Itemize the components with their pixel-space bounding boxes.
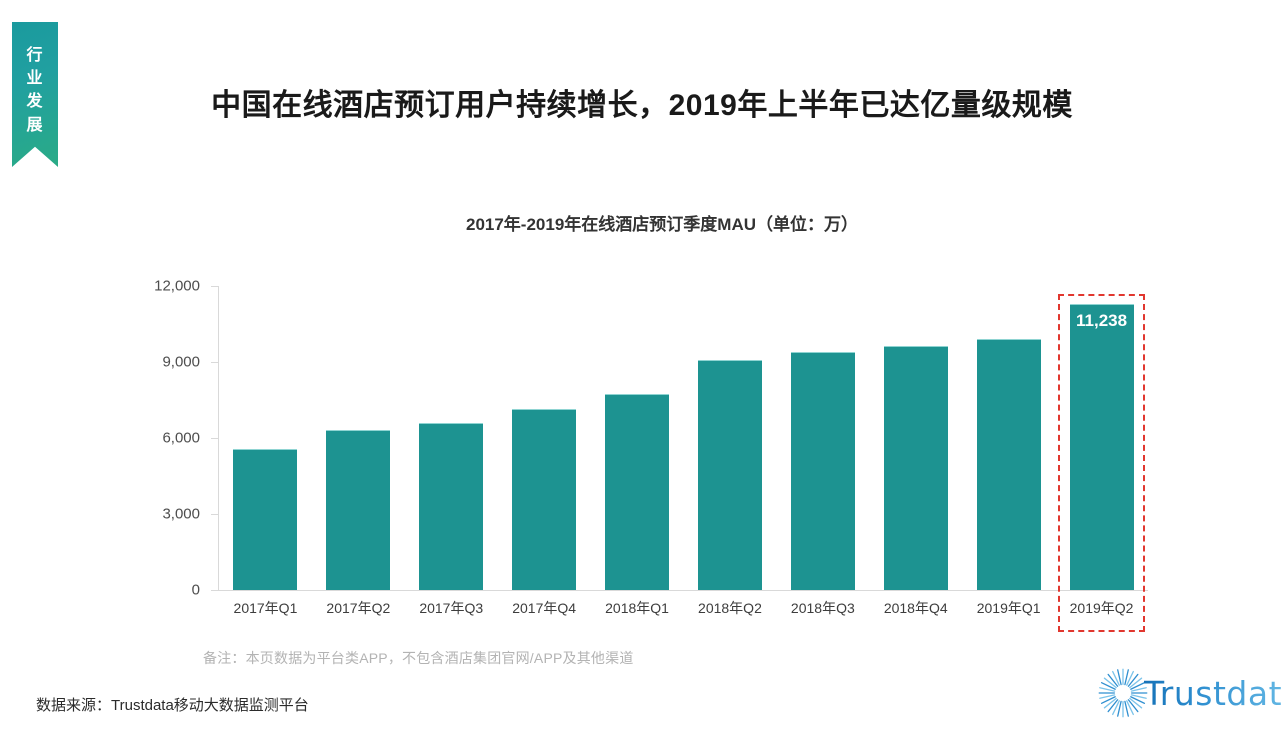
- x-axis-tick-label: 2018年Q4: [869, 598, 962, 618]
- bar-value-label: 11,238: [1070, 311, 1134, 331]
- bar[interactable]: [419, 423, 483, 590]
- bar-slot: [512, 286, 576, 590]
- bar-slot: [605, 286, 669, 590]
- y-axis-tick: [211, 514, 218, 515]
- x-axis-tick-label: 2019年Q2: [1055, 598, 1148, 618]
- x-axis-tick-label: 2017年Q1: [219, 598, 312, 618]
- y-axis-tick: [211, 286, 218, 287]
- y-axis-tick: [211, 438, 218, 439]
- bar-slot: [698, 286, 762, 590]
- bar[interactable]: [791, 352, 855, 590]
- x-axis-tick-label: 2017年Q2: [312, 598, 405, 618]
- y-axis-tick-label: 12,000: [154, 278, 200, 295]
- page-title: 中国在线酒店预订用户持续增长，2019年上半年已达亿量级规模: [0, 80, 1284, 124]
- bar[interactable]: [698, 360, 762, 590]
- y-axis-tick-label: 3,000: [162, 506, 200, 523]
- x-axis-tick-label: 2019年Q1: [962, 598, 1055, 618]
- trustdata-logo: Trustdata: [1096, 662, 1276, 724]
- y-axis-tick-label: 9,000: [162, 354, 200, 371]
- x-axis-tick-label: 2018年Q3: [776, 598, 869, 618]
- chart-container: 2017年-2019年在线酒店预订季度MAU（单位：万） 03,0006,000…: [0, 210, 1284, 235]
- data-source: 数据来源：Trustdata移动大数据监测平台: [36, 694, 309, 715]
- y-axis-tick: [211, 590, 218, 591]
- bar-slot: [977, 286, 1041, 590]
- bar[interactable]: [977, 339, 1041, 590]
- y-axis-tick-label: 0: [192, 582, 200, 599]
- bar-slot: [419, 286, 483, 590]
- y-axis-tick: [211, 362, 218, 363]
- bar[interactable]: [605, 394, 669, 590]
- plot-area: 03,0006,0009,00012,000 11,238 2017年Q1201…: [140, 286, 1160, 636]
- x-axis-tick-label: 2018年Q2: [684, 598, 777, 618]
- bar-slot: [884, 286, 948, 590]
- bar-slot: 11,238: [1070, 286, 1134, 590]
- y-axis-tick-label: 6,000: [162, 430, 200, 447]
- x-axis-line: [218, 590, 1148, 591]
- bar-slot: [233, 286, 297, 590]
- x-axis-tick-label: 2017年Q3: [405, 598, 498, 618]
- bar[interactable]: 11,238: [1070, 304, 1134, 590]
- bar[interactable]: [326, 430, 390, 590]
- bar-slot: [326, 286, 390, 590]
- y-axis-labels: 03,0006,0009,00012,000: [140, 286, 208, 590]
- bar[interactable]: [512, 409, 576, 590]
- x-axis-tick-label: 2017年Q4: [498, 598, 591, 618]
- logo-text: Trustdata: [1144, 674, 1284, 713]
- chart-title: 2017年-2019年在线酒店预订季度MAU（单位：万）: [0, 210, 1284, 235]
- bar-slot: [791, 286, 855, 590]
- bar[interactable]: [233, 449, 297, 590]
- x-axis-labels: 2017年Q12017年Q22017年Q32017年Q42018年Q12018年…: [219, 594, 1148, 624]
- bar[interactable]: [884, 346, 948, 590]
- sunburst-icon: [1096, 666, 1150, 720]
- footnote: 备注：本页数据为平台类APP，不包含酒店集团官网/APP及其他渠道: [203, 648, 634, 668]
- x-axis-tick-label: 2018年Q1: [591, 598, 684, 618]
- bar-series: 11,238: [219, 286, 1148, 590]
